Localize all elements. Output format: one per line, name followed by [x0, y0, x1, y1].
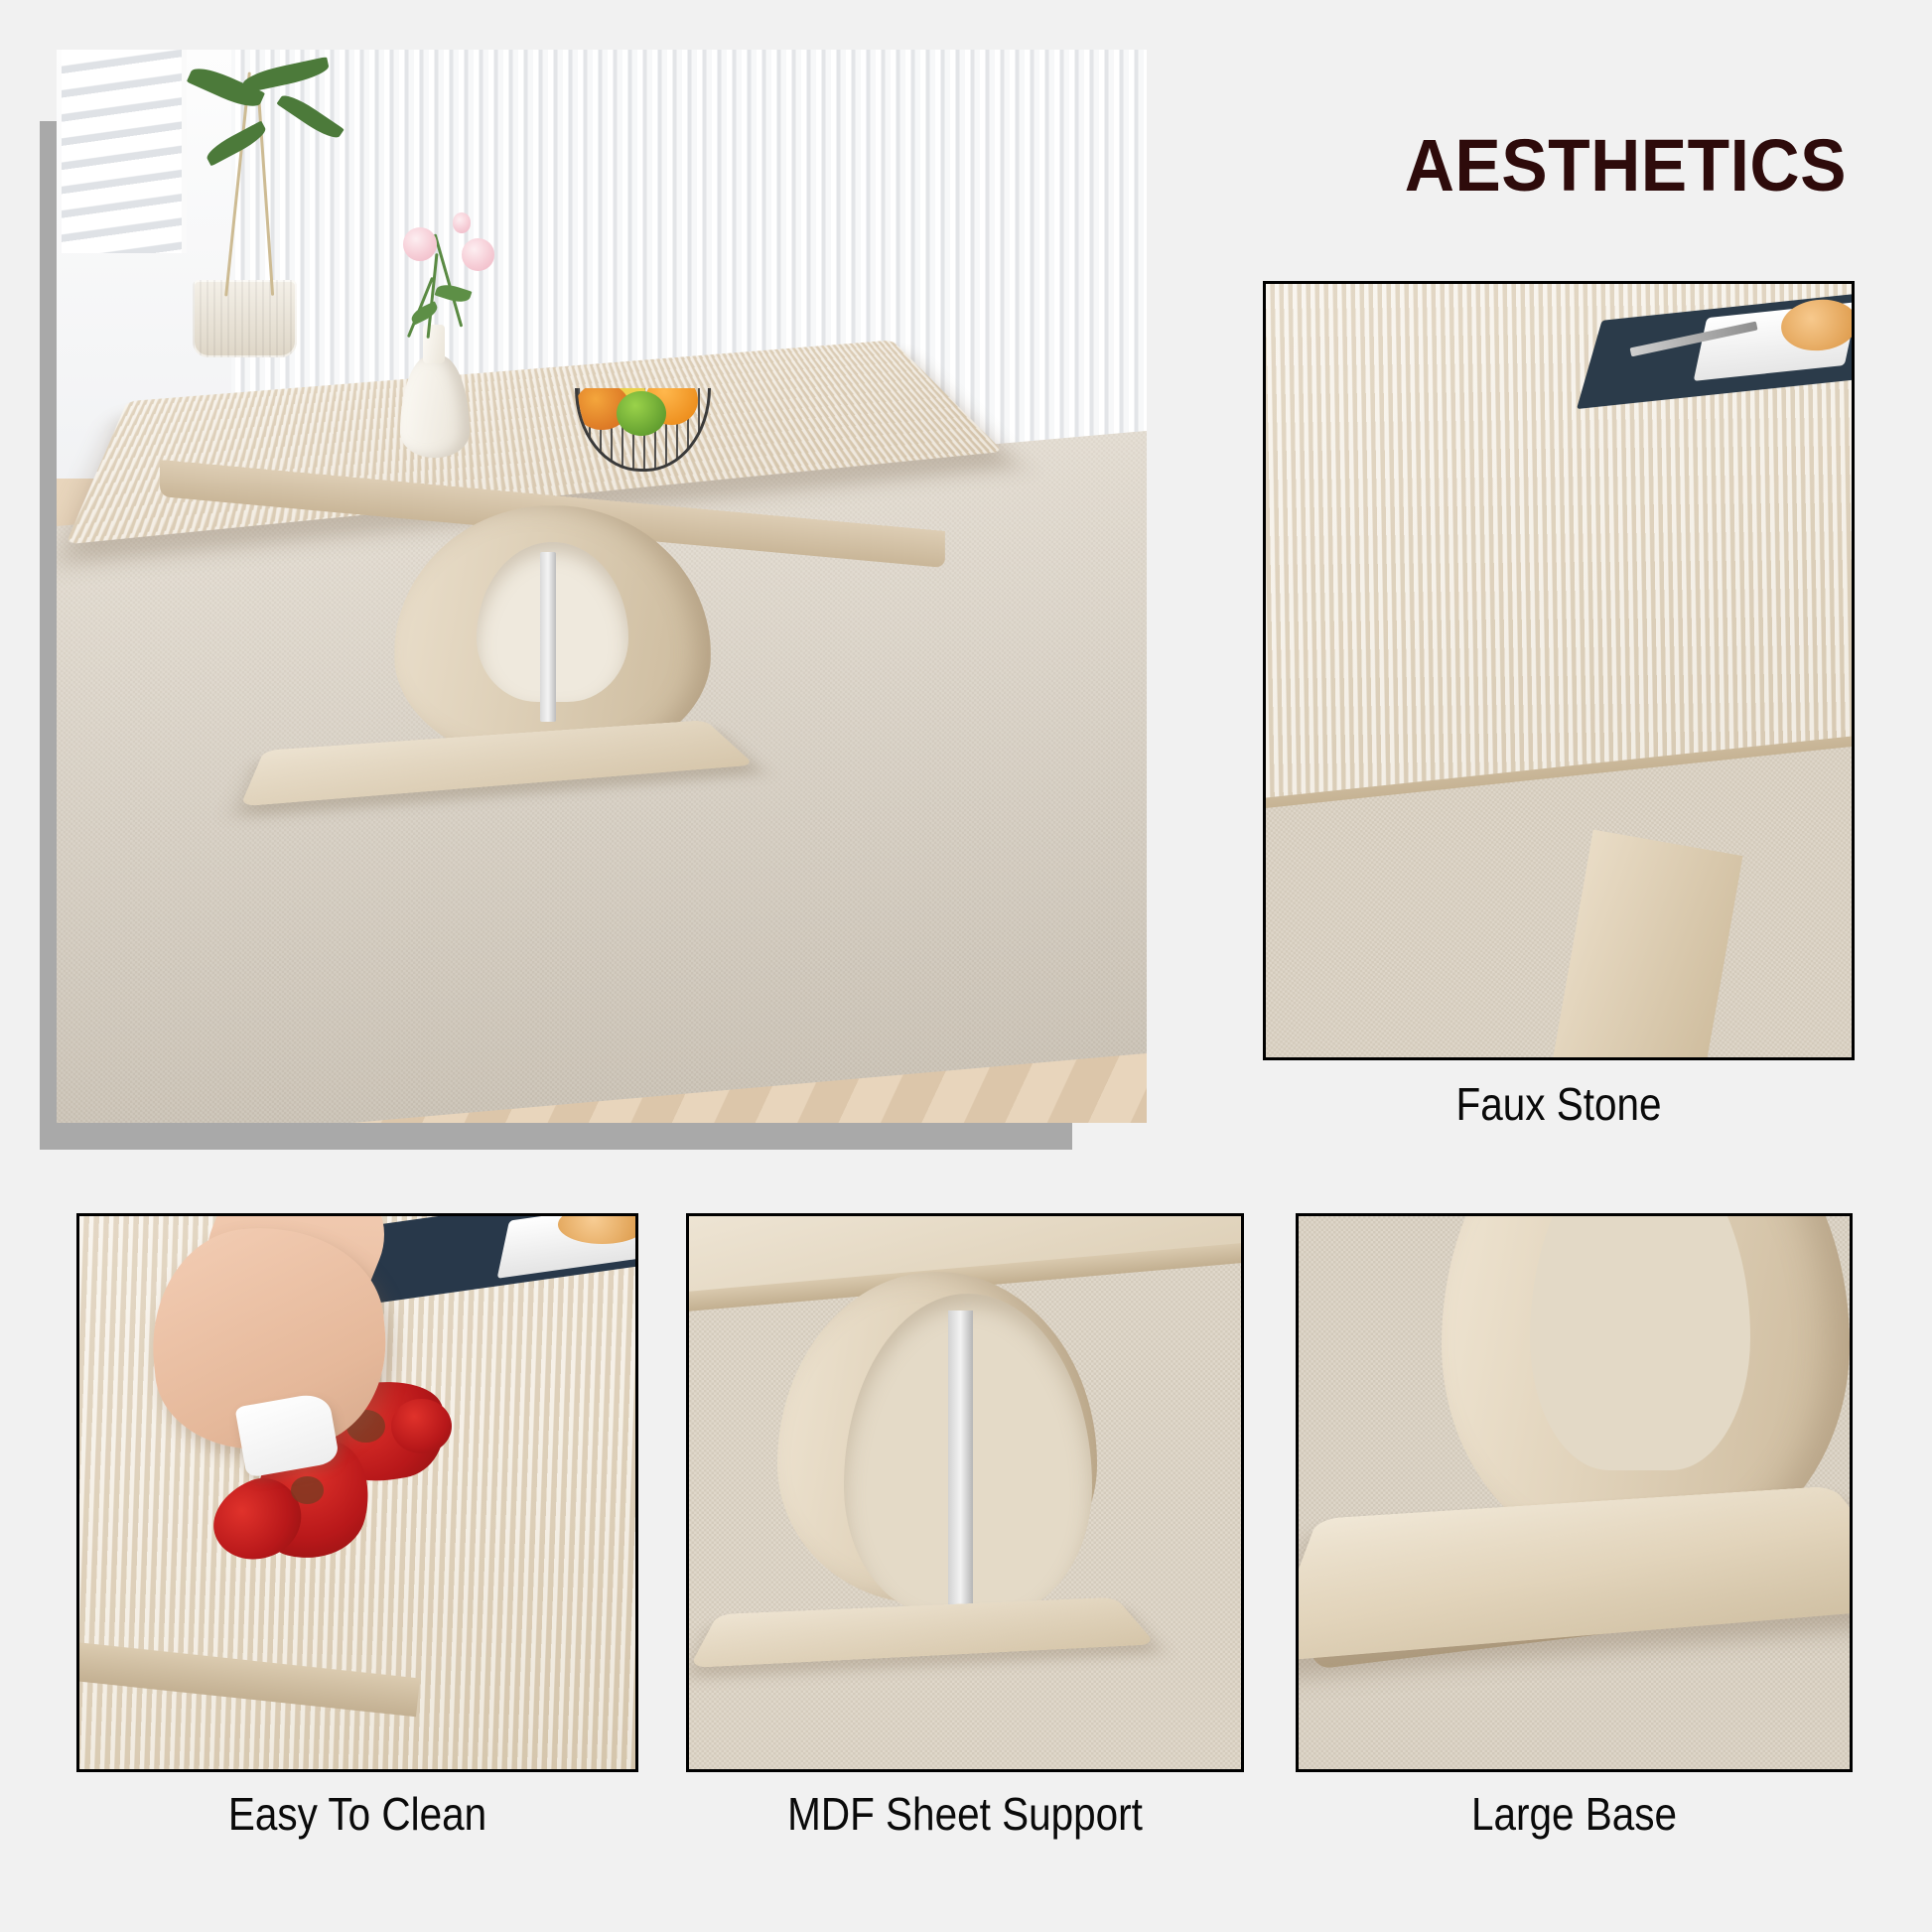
planter-basket	[193, 280, 296, 357]
chrome-accent-strip	[948, 1311, 973, 1620]
large-base-panel	[1296, 1213, 1853, 1772]
caption-mdf-sheet-support: MDF Sheet Support	[720, 1787, 1211, 1841]
easy-to-clean-panel	[76, 1213, 638, 1772]
mdf-sheet-support-panel	[686, 1213, 1244, 1772]
easy-to-clean-scene	[79, 1216, 635, 1769]
faux-stone-scene	[1266, 284, 1852, 1057]
pedestal-opening	[1530, 1216, 1750, 1470]
pink-rose	[403, 227, 437, 261]
mdf-support-scene	[689, 1216, 1241, 1769]
sauce-dark-spot	[291, 1476, 325, 1504]
faux-stone-panel	[1263, 281, 1855, 1060]
pink-rose	[462, 238, 494, 270]
hero-scene	[57, 50, 1147, 1123]
caption-easy-to-clean: Easy To Clean	[110, 1787, 605, 1841]
caption-large-base: Large Base	[1329, 1787, 1820, 1841]
pink-rose-bud	[453, 212, 472, 233]
vase-neck	[423, 325, 445, 363]
large-base-scene	[1299, 1216, 1850, 1769]
chrome-accent-strip	[540, 552, 556, 722]
caption-faux-stone: Faux Stone	[1299, 1077, 1819, 1131]
window-blinds	[62, 50, 187, 253]
headline-line-1: AESTHETICS	[1100, 123, 1847, 208]
hero-lifestyle-image	[57, 50, 1147, 1123]
fruit-green-apple	[617, 391, 666, 436]
